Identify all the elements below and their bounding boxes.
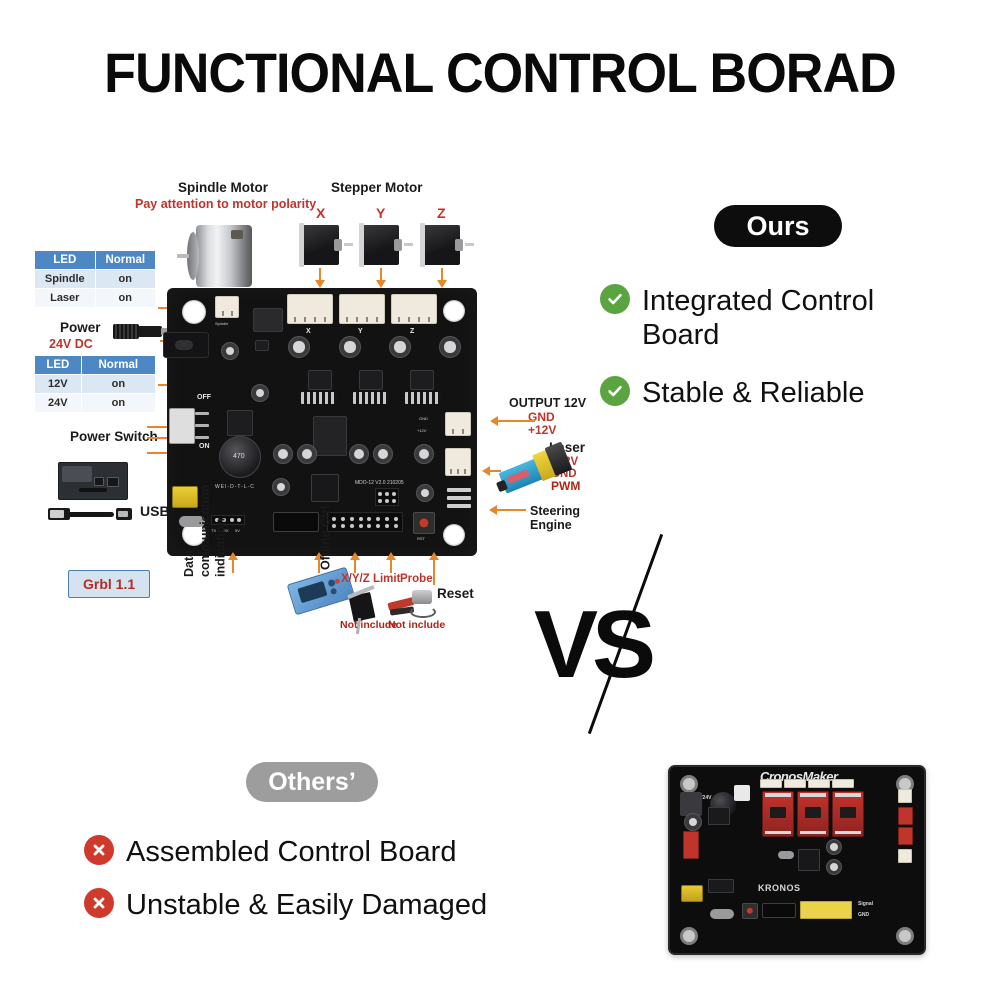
others-board-logo: KRONOS (758, 883, 801, 893)
arrow-reset-head (429, 552, 439, 560)
arrow-stepper-y-head (376, 280, 386, 288)
others-stepper-driver (797, 791, 829, 837)
led-table-1: LED Normal Spindle on Laser on (34, 250, 156, 308)
laser-connector (445, 448, 471, 476)
others-bullet-1: Assembled Control Board (84, 835, 624, 869)
resistor-bank (301, 392, 337, 404)
arrow-limit-head (350, 552, 360, 560)
spindle-polarity-note: Pay attention to motor polarity (135, 197, 316, 211)
limit-probe-header (327, 512, 403, 532)
power-heading: Power (60, 320, 101, 336)
others-capacitor (826, 839, 842, 855)
arrow-stepper-z-head (437, 280, 447, 288)
probe-image (388, 588, 440, 622)
led-table-2-r1c0: 24V (35, 394, 82, 413)
cross-icon (84, 835, 114, 865)
others-tact-switch (734, 785, 750, 801)
switch-off-silk: OFF (197, 394, 211, 401)
others-pin-gnd-label: GND (858, 912, 869, 918)
others-mount-hole-bl (680, 927, 698, 945)
mount-hole-tr (443, 300, 465, 322)
arrow-output12v (497, 420, 535, 422)
arrow-laser (489, 470, 501, 472)
led-table-1-header-0: LED (35, 251, 96, 270)
others-ic (708, 879, 734, 893)
ours-bullet-1-text: Integrated Control Board (642, 284, 874, 352)
output-12v-connector (445, 412, 471, 436)
capacitor (349, 444, 369, 464)
others-bullet-2: Unstable & Easily Damaged (84, 888, 624, 922)
led-table-2-header-1: Normal (81, 356, 155, 375)
spindle-motor-heading: Spindle Motor (178, 180, 268, 196)
others-crystal (710, 909, 734, 919)
arrow-steering (496, 509, 526, 511)
laser-pin-pwm: PWM (551, 480, 580, 494)
resistor-bank (353, 392, 389, 404)
mcu-chip (311, 474, 339, 502)
motor-connector-y (339, 294, 385, 324)
serial-5v-silk: 5V (235, 528, 240, 533)
others-stepper-driver (832, 791, 864, 837)
stepper-motor-heading: Stepper Motor (331, 180, 423, 196)
switch-pin (195, 412, 209, 415)
stepper-motor-x-image (301, 225, 339, 265)
capacitor (297, 444, 317, 464)
poster-root: FUNCTIONAL CONTROL BORAD Spindle Motor P… (0, 0, 1000, 1000)
led-table-2-r1c1: on (81, 394, 155, 413)
arrow-reset (433, 557, 435, 585)
board-revision-silk: MDO-12 V2.0 210205 (355, 480, 404, 486)
mount-hole-br (443, 524, 465, 546)
page-title: FUNCTIONAL CONTROL BORAD (35, 40, 965, 105)
capacitor (251, 384, 269, 402)
output-gnd-silk: GND (419, 416, 428, 421)
resistor-bank (405, 392, 441, 404)
stepper-axis-y-label: Y (376, 205, 385, 221)
led-table-1-r0c1: on (95, 270, 155, 289)
spindle-silk: Spindle (215, 321, 228, 326)
led-table-2: LED Normal 12V on 24V on (34, 355, 156, 413)
capacitor (272, 478, 290, 496)
led-table-1-r0c0: Spindle (35, 270, 96, 289)
others-power-terminal (683, 831, 699, 859)
capacitor (273, 444, 293, 464)
led-table-1-r1c1: on (95, 289, 155, 308)
others-crystal (778, 851, 794, 859)
board-axis-y-silk: Y (358, 328, 363, 335)
steering-pin (447, 496, 471, 500)
ours-bullet-2: Stable & Reliable (600, 376, 992, 410)
others-control-board-image: CronosMaker DC 12/24V (668, 765, 926, 955)
others-usb-port (681, 885, 703, 902)
check-icon (600, 284, 630, 314)
steering-pin (447, 504, 471, 508)
reset-label: Reset (437, 586, 474, 602)
probe-label: Probe (400, 573, 433, 586)
cross-icon (84, 888, 114, 918)
others-idc-header (762, 903, 796, 918)
offline-ctrl-header (273, 512, 319, 532)
others-motor-connector (784, 779, 806, 788)
arrow-probe-head (386, 552, 396, 560)
power-spec: 24V DC (49, 337, 93, 351)
inductor-silk: 470 (233, 453, 245, 460)
others-motor-connector (832, 779, 854, 788)
dc-jack-pin (175, 340, 193, 350)
reset-silk: RST (417, 536, 425, 541)
stepper-motor-y-image (361, 225, 399, 265)
arrow-output12v-head (490, 416, 498, 426)
ours-bullet-1: Integrated Control Board (600, 284, 992, 352)
buck-regulator (313, 416, 347, 456)
xyz-limit-label: X/Y/Z Limit (341, 573, 400, 586)
switch-on-silk: ON (199, 443, 210, 450)
output-12v-pin-12v: +12V (528, 424, 556, 438)
stepper-driver-ic (359, 370, 383, 390)
others-stepper-driver (762, 791, 794, 837)
motor-connector-x (287, 294, 333, 324)
mosfet-q1 (253, 308, 283, 332)
spindle-motor-image (196, 225, 252, 287)
capacitor (439, 336, 461, 358)
others-badge: Others’ (246, 762, 378, 802)
stepper-axis-x-label: X (316, 205, 325, 221)
others-bullet-2-text: Unstable & Easily Damaged (126, 888, 487, 922)
others-motor-connector (760, 779, 782, 788)
others-mount-hole-tl (680, 775, 698, 793)
motor-connector-z (391, 294, 437, 324)
stepper-driver-ic (308, 370, 332, 390)
others-side-connector (898, 849, 912, 863)
jumper-block (375, 488, 399, 506)
others-capacitor (826, 859, 842, 875)
offline-ctrl-label: Offline Ctrl (319, 505, 333, 570)
others-mcu (798, 849, 820, 871)
regulator-u2 (255, 340, 269, 351)
power-switch-label: Power Switch (70, 429, 158, 445)
led-table-1-r1c0: Laser (35, 289, 96, 308)
arrow-laser-head (482, 466, 490, 476)
capacitor (414, 444, 434, 464)
led-table-2-r0c1: on (81, 375, 155, 394)
board-axis-z-silk: Z (410, 328, 414, 335)
output-12v-title: OUTPUT 12V (509, 396, 586, 410)
usb-cable-image (48, 504, 132, 524)
board-axis-x-silk: X (306, 328, 311, 335)
others-side-connector (898, 789, 912, 803)
power-switch[interactable] (169, 408, 195, 444)
grbl-version-badge: Grbl 1.1 (68, 570, 150, 598)
laptop-photo (58, 462, 128, 500)
capacitor (339, 336, 361, 358)
logic-ic (227, 410, 253, 436)
steering-engine-header (447, 488, 471, 492)
arrow-steering-head (489, 505, 497, 515)
capacitor (288, 336, 310, 358)
others-side-red-connector (898, 807, 913, 825)
led-table-2-r0c0: 12V (35, 375, 82, 394)
switch-pin (195, 424, 209, 427)
switch-pin (195, 436, 209, 439)
capacitor (221, 342, 239, 360)
vs-text: VS (534, 590, 650, 700)
capacitor (373, 444, 393, 464)
spindle-connector (215, 296, 239, 318)
steering-engine-label: Steering Engine (530, 504, 580, 533)
vs-divider: VS (520, 530, 680, 740)
arrow-stepper-x-head (315, 280, 325, 288)
output-12v-silk: +12V (417, 428, 426, 433)
stepper-motor-z-image (422, 225, 460, 265)
others-ic (708, 807, 730, 825)
data-communication-label: Data communication indication (182, 485, 229, 577)
ours-bullet-2-text: Stable & Reliable (642, 376, 864, 410)
others-pin-signal-label: Signal (858, 901, 873, 907)
usb-label: USB (140, 503, 170, 519)
others-yellow-header (800, 901, 852, 919)
others-side-red-connector (898, 827, 913, 845)
probe-not-include-label: Not include (388, 619, 445, 631)
reset-button[interactable] (413, 512, 435, 534)
check-icon (600, 376, 630, 406)
capacitor (416, 484, 434, 502)
stepper-axis-z-label: Z (437, 205, 446, 221)
led-table-2-header-0: LED (35, 356, 82, 375)
others-motor-connector (808, 779, 830, 788)
capacitor (389, 336, 411, 358)
mount-hole-tl (182, 300, 206, 324)
stepper-driver-ic (410, 370, 434, 390)
others-mount-hole-br (896, 927, 914, 945)
ours-badge: Ours (714, 205, 842, 247)
led-table-1-header-1: Normal (95, 251, 155, 270)
others-bullet-1-text: Assembled Control Board (126, 835, 456, 869)
others-reset-button (742, 903, 758, 919)
others-capacitor (684, 813, 702, 831)
arrow-datacomm-head (228, 552, 238, 560)
